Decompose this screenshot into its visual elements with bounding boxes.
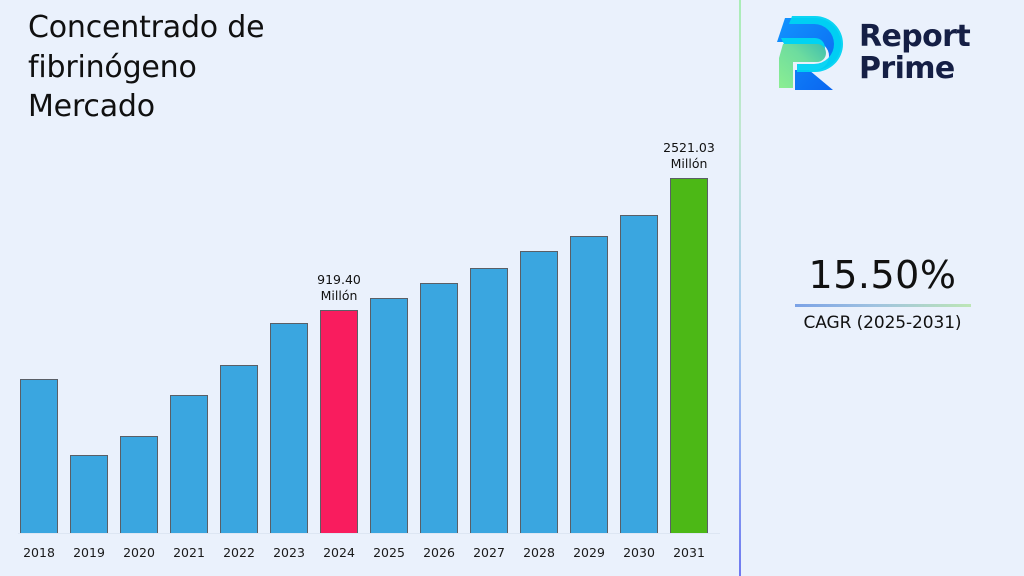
- bar-2022: [220, 365, 258, 534]
- bar-2025: [370, 298, 408, 534]
- brand-logo: Report Prime: [775, 14, 970, 92]
- cagr-block: 15.50% CAGR (2025-2031): [741, 255, 1024, 333]
- x-axis-line: [18, 533, 720, 534]
- bars-layer: 201820192020202120222023919.40 Millón202…: [0, 0, 739, 576]
- cagr-divider-rule: [795, 304, 971, 307]
- x-tick-label-2022: 2022: [214, 545, 264, 560]
- brand-name: Report Prime: [859, 21, 970, 86]
- cagr-caption: CAGR (2025-2031): [741, 313, 1024, 333]
- bar-2030: [620, 215, 658, 534]
- bar-value-label-2031: 2521.03 Millón: [642, 140, 736, 172]
- x-tick-label-2021: 2021: [164, 545, 214, 560]
- x-tick-label-2020: 2020: [114, 545, 164, 560]
- bar-2028: [520, 251, 558, 534]
- side-panel: Report Prime 15.50% CAGR (2025-2031): [741, 0, 1024, 576]
- bar-chart-plot-area: 201820192020202120222023919.40 Millón202…: [0, 0, 739, 576]
- bar-2020: [120, 436, 158, 534]
- x-tick-label-2026: 2026: [414, 545, 464, 560]
- bar-2029: [570, 236, 608, 534]
- bar-2027: [470, 268, 508, 534]
- bar-2031: [670, 178, 708, 534]
- x-tick-label-2030: 2030: [614, 545, 664, 560]
- x-tick-label-2031: 2031: [664, 545, 714, 560]
- x-tick-label-2028: 2028: [514, 545, 564, 560]
- bar-2021: [170, 395, 208, 534]
- report-prime-r-monogram-icon: [775, 14, 847, 92]
- x-tick-label-2019: 2019: [64, 545, 114, 560]
- chart-canvas: Concentrado de fibrinógeno Mercado 20182…: [0, 0, 1024, 576]
- cagr-value: 15.50%: [741, 255, 1024, 297]
- x-tick-label-2023: 2023: [264, 545, 314, 560]
- x-tick-label-2027: 2027: [464, 545, 514, 560]
- x-tick-label-2018: 2018: [14, 545, 64, 560]
- bar-2018: [20, 379, 58, 534]
- x-tick-label-2025: 2025: [364, 545, 414, 560]
- bar-2023: [270, 323, 308, 534]
- bar-2024: [320, 310, 358, 534]
- x-tick-label-2029: 2029: [564, 545, 614, 560]
- bar-2019: [70, 455, 108, 534]
- bar-2026: [420, 283, 458, 534]
- x-tick-label-2024: 2024: [314, 545, 364, 560]
